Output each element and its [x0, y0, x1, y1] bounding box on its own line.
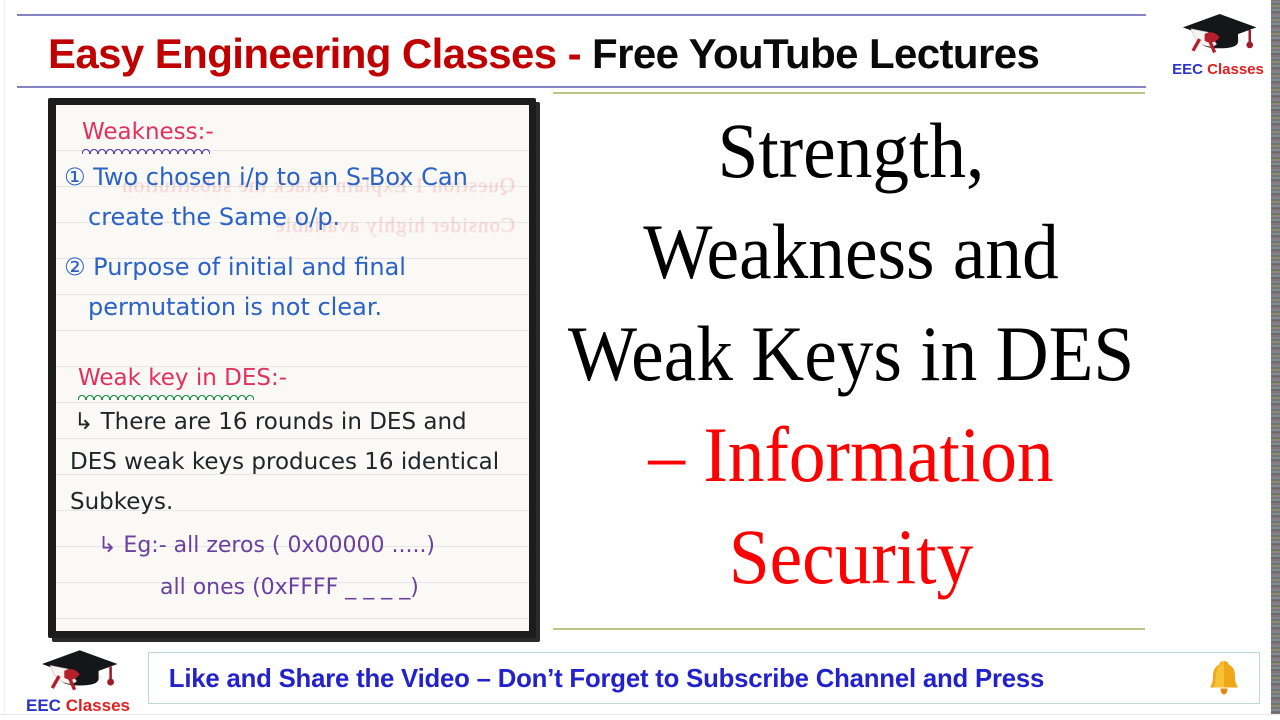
note-heading-underline: [82, 147, 210, 154]
slide-title-line-3: Weak Keys in DES: [568, 303, 1134, 404]
logo-text-secondary: Classes: [66, 696, 130, 715]
note-paper: Question 1 Explain attack the substituti…: [56, 105, 529, 631]
note-body-2: DES weak keys produces 16 identical: [70, 449, 499, 475]
header-brand: Easy Engineering Classes: [48, 30, 557, 77]
note-item-1b: create the Same o/p.: [88, 203, 340, 231]
logo-text-primary: EEC: [1172, 61, 1203, 78]
logo-text-primary: EEC: [26, 696, 61, 715]
subscribe-banner[interactable]: Like and Share the Video – Don’t Forget …: [148, 652, 1260, 704]
note-card: Question 1 Explain attack the substituti…: [48, 98, 536, 638]
logo-wordmark: EEC Classes: [20, 696, 136, 716]
note-item-2b: permutation is not clear.: [88, 293, 382, 321]
note-heading: Weakness:-: [82, 119, 214, 145]
header-separator: -: [557, 30, 593, 77]
logo-text-secondary: Classes: [1207, 61, 1264, 78]
note-subheading: Weak key in DES:-: [78, 365, 287, 391]
logo-top-right: EEC Classes: [1166, 4, 1270, 78]
note-item-1: ① Two chosen i/p to an S-Box Can: [64, 163, 468, 191]
slide-rule-top: [553, 92, 1145, 94]
header-tagline: Free YouTube Lectures: [592, 30, 1039, 77]
slide-title-line-1: Strength,: [718, 100, 985, 201]
slide-rule-bottom: [553, 628, 1145, 630]
slide-title-line-5: Security: [729, 506, 973, 607]
note-example-2: all ones (0xFFFF _ _ _ _): [160, 575, 419, 600]
graduation-cap-icon: [20, 640, 136, 693]
note-item-2: ② Purpose of initial and final: [64, 253, 406, 281]
note-body-3: Subkeys.: [70, 489, 173, 515]
frame-bottom-edge: [0, 714, 1280, 720]
header-rule-top: [17, 14, 1146, 16]
frame-left-edge: [0, 0, 5, 720]
header-title: Easy Engineering Classes - Free YouTube …: [48, 26, 1138, 82]
note-subheading-underline: [78, 393, 254, 400]
slide-title: Strength, Weakness and Weak Keys in DES …: [571, 100, 1131, 620]
header-rule-bottom: [17, 86, 1146, 88]
graduation-cap-icon: [1166, 4, 1270, 56]
slide-title-line-2: Weakness and: [643, 201, 1059, 302]
subscribe-banner-text: Like and Share the Video – Don’t Forget …: [149, 663, 1044, 694]
slide-title-line-4: – Information: [648, 404, 1053, 505]
logo-bottom-left: EEC Classes: [20, 640, 136, 716]
note-body-1: ↳ There are 16 rounds in DES and: [74, 409, 467, 435]
bell-icon: [1207, 658, 1241, 698]
note-example-1: ↳ Eg:- all zeros ( 0x00000 .....): [98, 533, 435, 558]
frame-right-noise-strip: [1271, 0, 1280, 720]
logo-wordmark: EEC Classes: [1166, 61, 1270, 78]
slide-canvas: Easy Engineering Classes - Free YouTube …: [0, 0, 1280, 720]
